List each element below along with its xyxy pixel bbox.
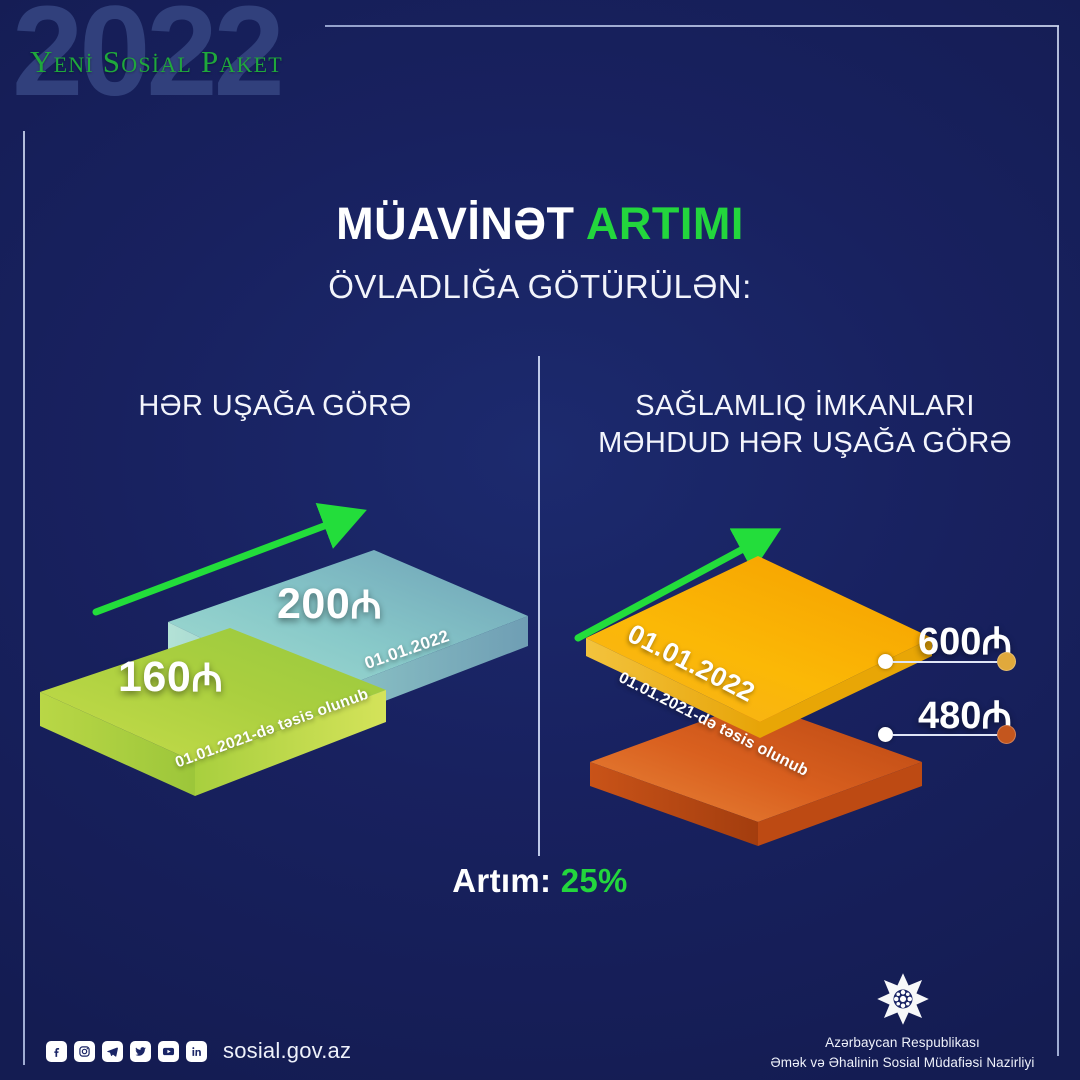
right-column-heading-line1: SAĞLAMLIQ İMKANLARI (566, 388, 1044, 425)
right-column-heading-line2: MƏHDUD HƏR UŞAĞA GÖRƏ (566, 425, 1044, 462)
page-title-accent: ARTIMI (586, 198, 744, 249)
ministry-line-2: Əmək və Əhalinin Sosial Müdafiəsi Nazirl… (760, 1053, 1045, 1073)
callout-anchor-dot (878, 727, 893, 742)
instagram-icon[interactable] (74, 1041, 95, 1062)
growth-statement: Artım: 25% (0, 862, 1080, 900)
linkedin-icon[interactable] (186, 1041, 207, 1062)
brand-title: Yeni Sosial Paket (30, 44, 283, 80)
growth-label: Artım: (452, 862, 551, 899)
left-new-value: 200₼ (277, 577, 382, 630)
facebook-icon[interactable] (46, 1041, 67, 1062)
callout-anchor-dot (878, 654, 893, 669)
right-column-heading: SAĞLAMLIQ İMKANLARI MƏHDUD HƏR UŞAĞA GÖR… (566, 388, 1044, 462)
growth-value: 25% (561, 862, 628, 899)
manat-icon: ₼ (350, 584, 382, 627)
manat-icon: ₼ (191, 657, 223, 700)
ministry-block: Azərbaycan Respublikası Əmək və Əhalinin… (760, 971, 1045, 1072)
left-column-heading: HƏR UŞAĞA GÖRƏ (40, 388, 510, 425)
left-chart-group: 200₼ 01.01.2022 160₼ 01.01.2021-də təsis… (40, 500, 540, 790)
page-title-primary: MÜAVİNƏT (336, 198, 574, 249)
callout-end-dot (997, 652, 1016, 671)
page-title: MÜAVİNƏT ARTIMI (0, 198, 1080, 250)
callout-leader-line (893, 661, 997, 663)
frame-line-right (1057, 26, 1059, 1056)
twitter-icon[interactable] (130, 1041, 151, 1062)
callout-600 (878, 652, 1016, 671)
frame-line-top (325, 25, 1059, 27)
page-subtitle: ÖVLADLIĞA GÖTÜRÜLƏN: (0, 268, 1080, 306)
telegram-icon[interactable] (102, 1041, 123, 1062)
footer-website-url[interactable]: sosial.gov.az (223, 1038, 351, 1064)
callout-leader-line (893, 734, 997, 736)
infographic-poster: 2022 Yeni Sosial Paket MÜAVİNƏT ARTIMI Ö… (0, 0, 1080, 1080)
youtube-icon[interactable] (158, 1041, 179, 1062)
ministry-line-1: Azərbaycan Respublikası (760, 1033, 1045, 1053)
right-chart-group: 01.01.2022 01.01.2021-də təsis olunub 60… (560, 520, 1040, 860)
callout-480 (878, 725, 1016, 744)
ministry-emblem-icon (875, 971, 931, 1027)
callout-end-dot (997, 725, 1016, 744)
footer-social-bar: sosial.gov.az (46, 1038, 351, 1064)
left-old-value: 160₼ (118, 650, 223, 703)
